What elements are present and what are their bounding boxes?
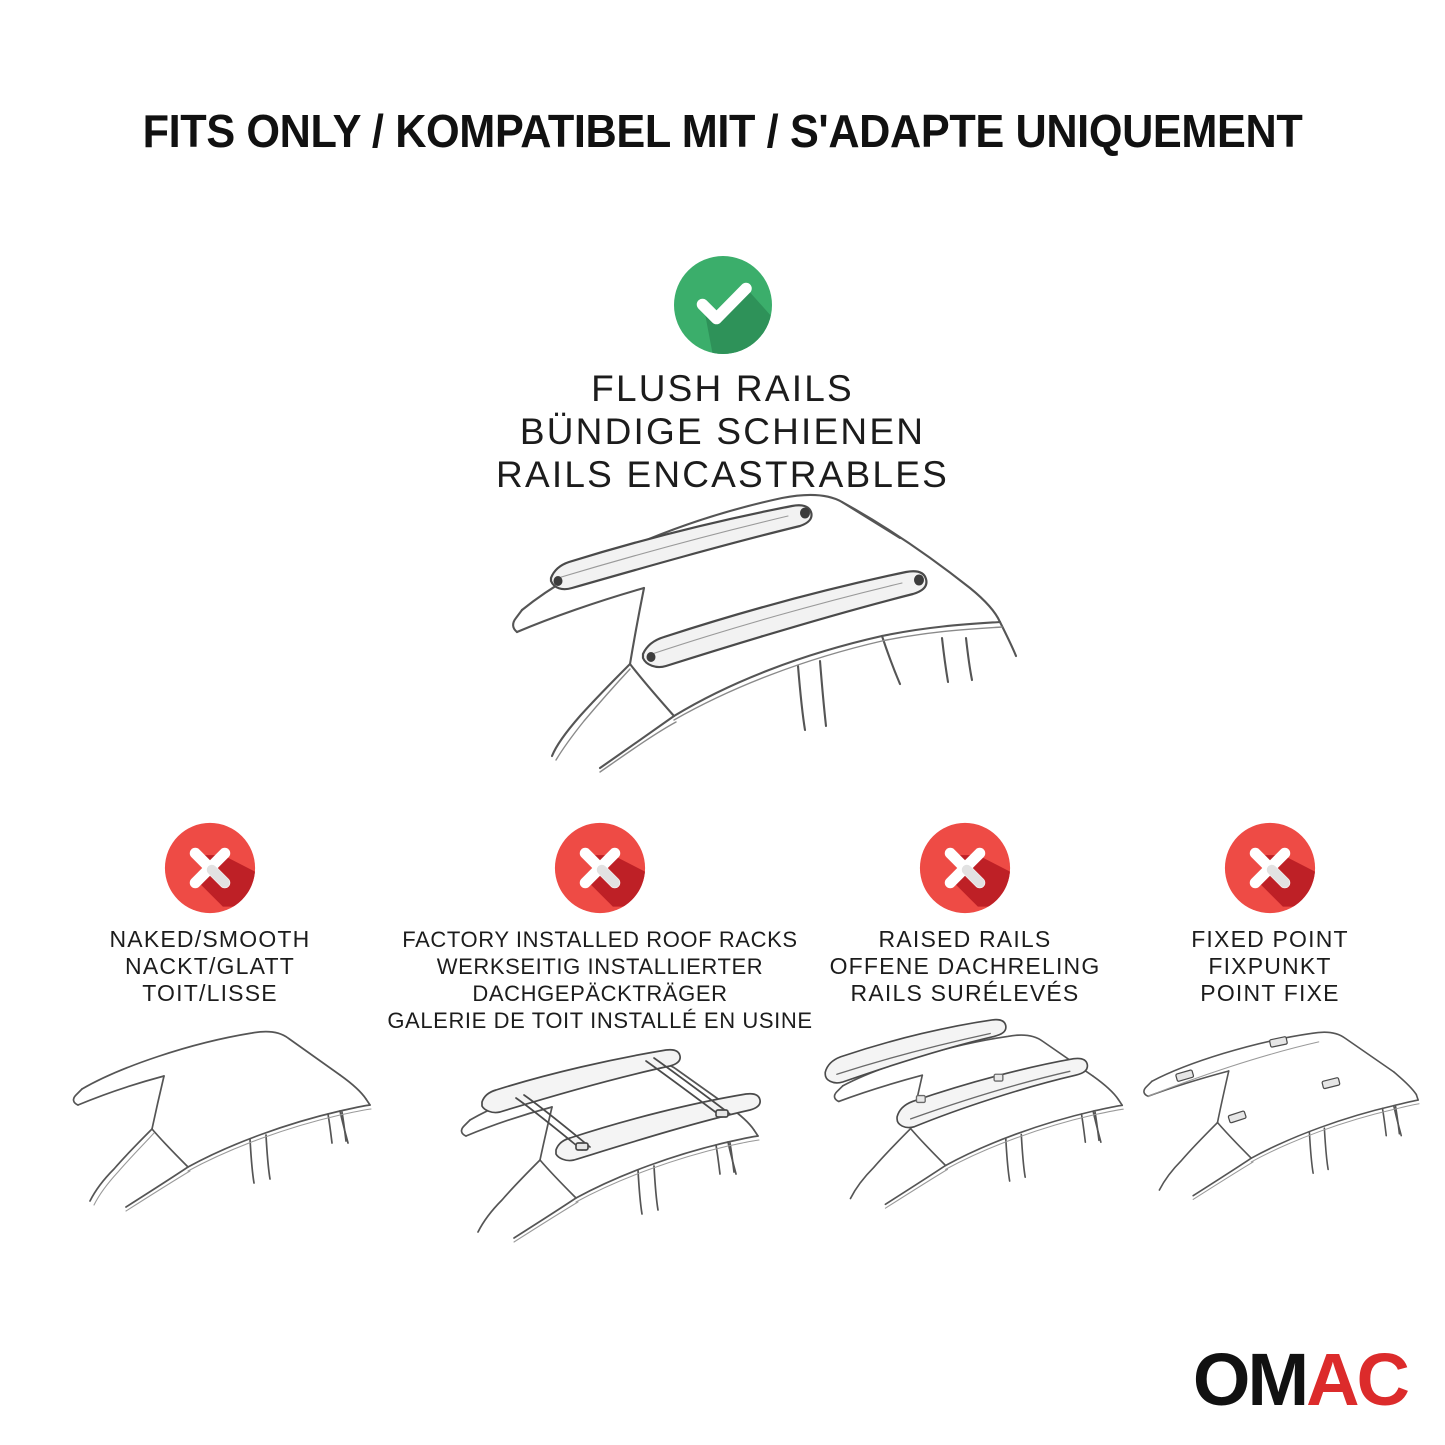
incompatible-3-label-line-1: RAISED RAILS: [800, 926, 1130, 953]
incompatible-3-label-line-3: RAILS SURÉLEVÉS: [800, 980, 1130, 1007]
incompatible-4-label-line-1: FIXED POINT: [1120, 926, 1420, 953]
check-circle-icon: [673, 255, 773, 355]
cross-badge-wrap-2: [375, 818, 825, 918]
incompatible-labels-1: NAKED/SMOOTH NACKT/GLATT TOIT/LISSE: [20, 926, 400, 1007]
omac-logo: OMAC: [1193, 1343, 1407, 1417]
incompatible-2-label-line-3: DACHGEPÄCKTRÄGER: [375, 980, 825, 1007]
incompatible-3-label-line-2: OFFENE DACHRELING: [800, 953, 1130, 980]
logo-part-accent: AC: [1306, 1338, 1407, 1421]
incompatible-2-label-line-2: WERKSEITIG INSTALLIERTER: [375, 953, 825, 980]
incompatible-2-label-line-1: FACTORY INSTALLED ROOF RACKS: [375, 926, 825, 953]
page-title: FITS ONLY / KOMPATIBEL MIT / S'ADAPTE UN…: [43, 104, 1401, 158]
compatible-label-line-2: BÜNDIGE SCHIENEN: [0, 410, 1445, 453]
cross-circle-icon: [919, 822, 1011, 914]
incompatible-4-label-line-2: FIXPUNKT: [1120, 953, 1420, 980]
incompatible-1-label-line-3: TOIT/LISSE: [20, 980, 400, 1007]
illustration-naked-smooth: [20, 1013, 400, 1218]
cross-badge-wrap-1: [20, 818, 400, 918]
incompatible-labels-2: FACTORY INSTALLED ROOF RACKS WERKSEITIG …: [375, 926, 825, 1034]
compatible-label-line-1: FLUSH RAILS: [0, 367, 1445, 410]
illustration-factory-roof-racks: [375, 1040, 825, 1245]
illustration-raised-rails: [800, 1013, 1130, 1218]
fixed-point-cover: [1228, 1111, 1246, 1123]
incompatible-section: NAKED/SMOOTH NACKT/GLATT TOIT/LISSE: [0, 818, 1445, 1248]
incompatible-2-label-line-4: GALERIE DE TOIT INSTALLÉ EN USINE: [375, 1007, 825, 1034]
cross-badge-wrap-4: [1120, 818, 1420, 918]
illustration-flush-rails: [430, 468, 1050, 778]
cross-circle-icon: [1224, 822, 1316, 914]
incompatible-item-factory-roof-racks: FACTORY INSTALLED ROOF RACKS WERKSEITIG …: [375, 818, 825, 1245]
cross-circle-icon: [554, 822, 646, 914]
incompatible-4-label-line-3: POINT FIXE: [1120, 980, 1420, 1007]
incompatible-1-label-line-1: NAKED/SMOOTH: [20, 926, 400, 953]
fixed-point-cover: [1322, 1077, 1340, 1088]
cross-circle-icon: [164, 822, 256, 914]
compatibility-infographic: FITS ONLY / KOMPATIBEL MIT / S'ADAPTE UN…: [0, 0, 1445, 1445]
incompatible-item-naked-smooth: NAKED/SMOOTH NACKT/GLATT TOIT/LISSE: [20, 818, 400, 1218]
compatible-section: FLUSH RAILS BÜNDIGE SCHIENEN RAILS ENCAS…: [0, 255, 1445, 496]
check-badge-wrap: [0, 255, 1445, 355]
illustration-fixed-point: [1120, 1013, 1420, 1218]
incompatible-item-raised-rails: RAISED RAILS OFFENE DACHRELING RAILS SUR…: [800, 818, 1130, 1218]
cross-badge-wrap-3: [800, 818, 1130, 918]
incompatible-1-label-line-2: NACKT/GLATT: [20, 953, 400, 980]
fixed-point-cover: [1269, 1036, 1287, 1047]
incompatible-labels-3: RAISED RAILS OFFENE DACHRELING RAILS SUR…: [800, 926, 1130, 1007]
incompatible-item-fixed-point: FIXED POINT FIXPUNKT POINT FIXE: [1120, 818, 1420, 1218]
logo-part-dark: OM: [1193, 1338, 1306, 1421]
incompatible-labels-4: FIXED POINT FIXPUNKT POINT FIXE: [1120, 926, 1420, 1007]
